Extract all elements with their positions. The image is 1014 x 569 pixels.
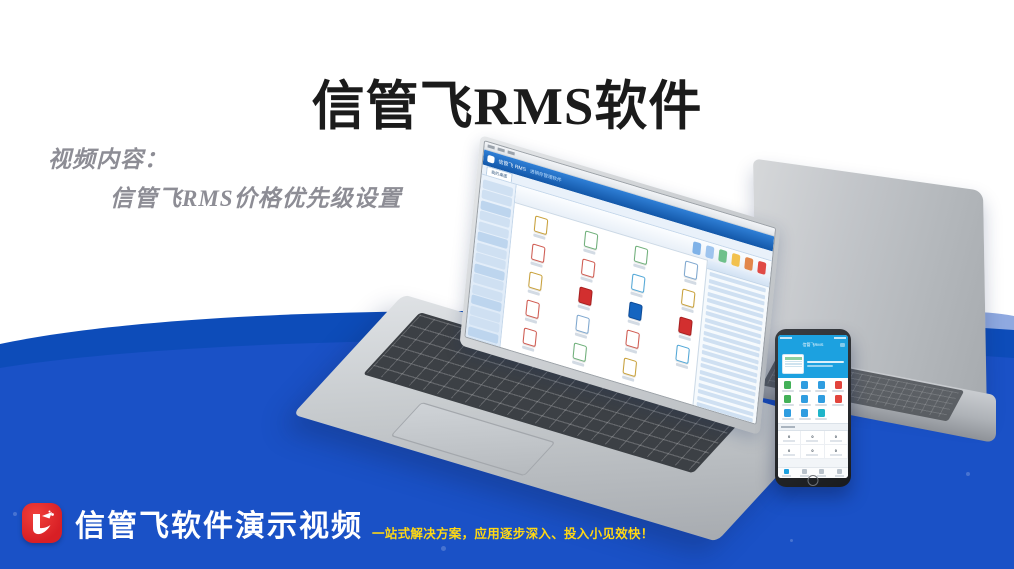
grid-item[interactable]: [605, 352, 653, 387]
grid-item[interactable]: [814, 381, 830, 392]
print-icon[interactable]: [705, 245, 714, 259]
footer-content: 信管飞软件演示视频 一站式解决方案，应用逐步深入、投入小见效快！: [22, 501, 654, 545]
footer-brand-bar: 信管飞软件演示视频 一站式解决方案，应用逐步深入、投入小见效快！: [0, 491, 1014, 569]
grid-item[interactable]: [830, 381, 846, 392]
grid-item[interactable]: [780, 381, 796, 392]
phone-app-header: 信管飞RMS: [778, 340, 848, 350]
device-thumbnail-icon: [782, 354, 804, 374]
right-panel-list[interactable]: [692, 269, 769, 425]
nav-home-icon[interactable]: [778, 469, 796, 477]
menu-item[interactable]: [508, 150, 515, 155]
help-icon[interactable]: [744, 256, 753, 270]
phone-icon-grid[interactable]: [778, 378, 848, 423]
grid-item[interactable]: [555, 337, 603, 372]
page-title: 信管飞RMS软件: [0, 78, 1014, 136]
grid-item[interactable]: [797, 395, 813, 406]
grid-item[interactable]: [797, 381, 813, 392]
stat-cell: 0: [801, 431, 824, 445]
grid-item[interactable]: [505, 322, 553, 357]
phone-home-button[interactable]: [808, 475, 819, 486]
lock-icon[interactable]: [731, 252, 740, 266]
grid-item[interactable]: [830, 395, 846, 406]
video-content-block: 视频内容： 信管飞RMS价格优先级设置: [48, 148, 402, 210]
grid-item[interactable]: [814, 409, 830, 420]
app-logo-icon: [487, 155, 495, 164]
nav-profile-icon[interactable]: [831, 469, 849, 477]
phone-screen: 信管飞RMS: [778, 335, 848, 478]
video-content-topic: 信管飞RMS价格优先级设置: [110, 187, 402, 210]
exit-icon[interactable]: [757, 260, 766, 274]
phone-banner-card[interactable]: [778, 350, 848, 378]
grid-item[interactable]: [797, 409, 813, 420]
signal-battery-icons: [834, 337, 846, 339]
user-icon[interactable]: [692, 241, 701, 255]
stat-cell: 0: [778, 431, 801, 445]
menu-icon[interactable]: [840, 343, 845, 347]
menu-item[interactable]: [498, 147, 505, 152]
device-illustration: 信管飞 RMS 进销存管理软件 我的桌面: [470, 175, 1014, 505]
brand-tagline: 一站式解决方案，应用逐步深入、投入小见效快！: [372, 523, 654, 545]
stats-label: [781, 426, 795, 428]
smartphone: 信管飞RMS: [775, 329, 851, 487]
grid-item[interactable]: [780, 409, 796, 420]
phone-stats-header: [778, 423, 848, 431]
refresh-icon[interactable]: [718, 248, 727, 262]
brand-bird-logo-icon: [22, 503, 62, 543]
video-content-label: 视频内容：: [48, 148, 402, 171]
grid-item[interactable]: [780, 395, 796, 406]
phone-banner-text: [807, 361, 844, 367]
stat-cell: 0: [825, 445, 848, 459]
phone-stats-grid: 0 0 0 0 0 0: [778, 431, 848, 459]
phone-app-title: 信管飞RMS: [803, 342, 824, 348]
presentation-slide: 信管飞RMS软件 视频内容： 信管飞RMS价格优先级设置: [0, 0, 1014, 569]
clock-icon: [780, 337, 792, 339]
brand-name: 信管飞软件演示视频: [75, 501, 363, 545]
app-right-panel[interactable]: [692, 260, 770, 425]
grid-item[interactable]: [814, 395, 830, 406]
stat-cell: 0: [825, 431, 848, 445]
stat-cell: 0: [778, 445, 801, 459]
menu-item[interactable]: [488, 144, 495, 149]
stat-cell: 0: [801, 445, 824, 459]
